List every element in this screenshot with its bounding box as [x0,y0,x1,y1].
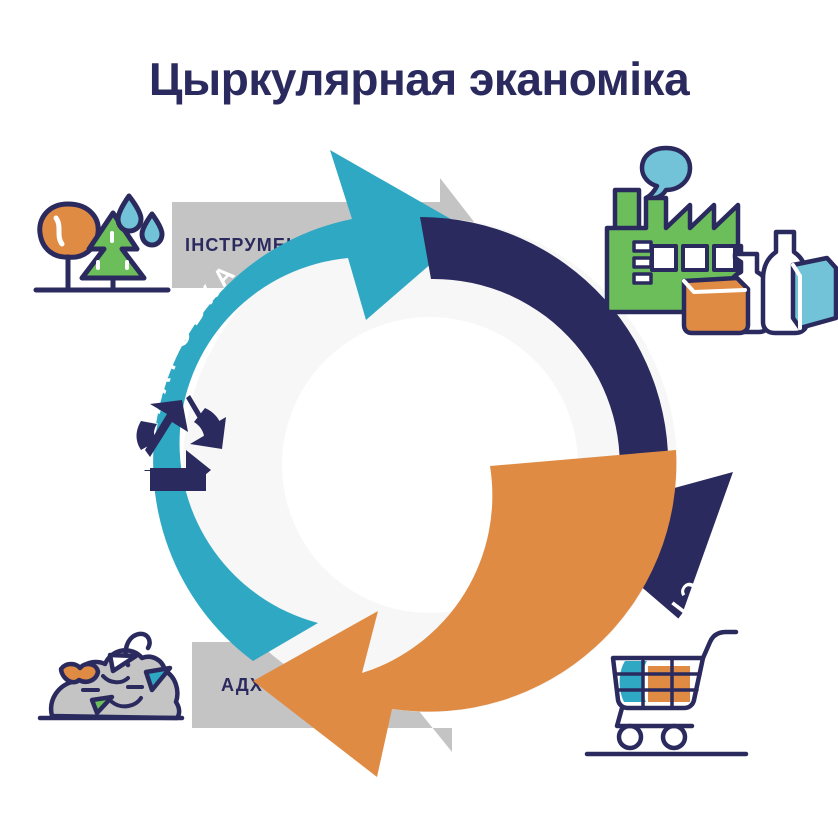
infographic-canvas: Цыркулярная эканоміка ІНСТРУМЕНТЫ АДХОДЫ… [0,0,838,835]
orange-scrap [61,664,98,682]
circular-economy-diagram: ІНСТРУМЕНТЫ АДХОДЫ ПЕРАРОБКА ВЫТВОРЧАСЦЬ [0,0,838,835]
orange-box-icon [684,278,748,333]
cart-item-orange [648,666,690,702]
icon-manufacturing [607,148,836,333]
icon-waste-pile [40,634,182,718]
icon-natural-resources [36,196,168,290]
smoke-puff-icon [642,148,690,199]
water-drop-icon [118,196,141,231]
water-drop-icon [142,214,162,245]
